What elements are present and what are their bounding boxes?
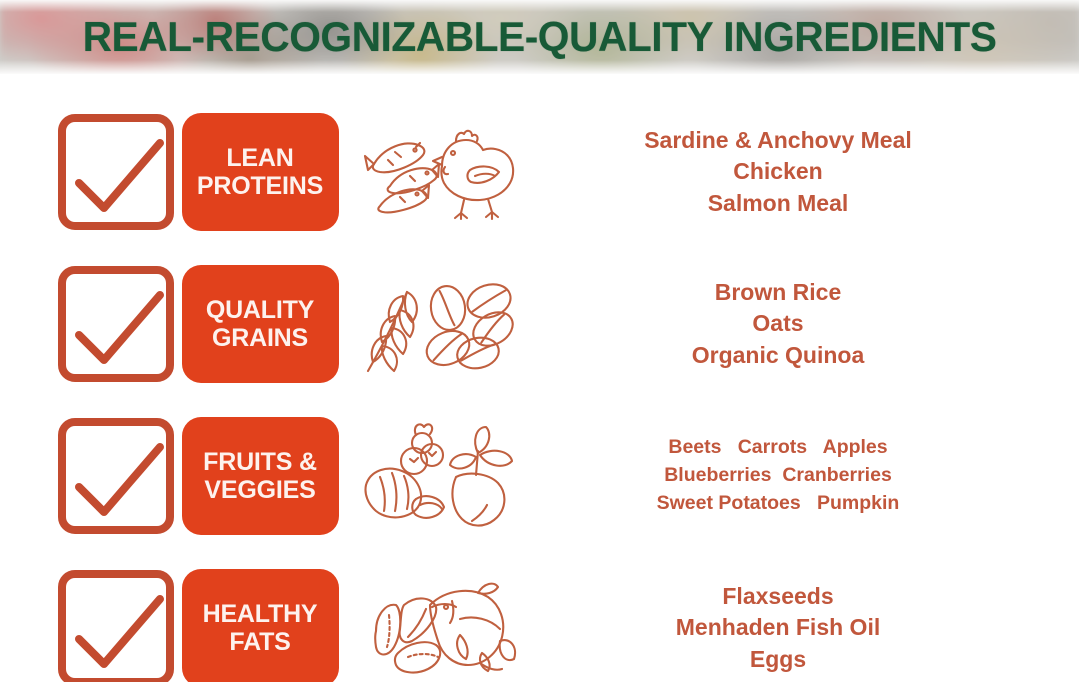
ingredient-row-fruits-veggies: FRUITS & VEGGIES: [0, 400, 1079, 552]
ingredient-list-cell: Brown Rice Oats Organic Quinoa: [535, 277, 1079, 370]
badge-line-2: FATS: [229, 628, 290, 656]
ingredient-line: Blueberries Cranberries: [664, 462, 892, 490]
checkmark-box-icon[interactable]: [57, 569, 175, 682]
berries-sweet-potato-beet-icon: [360, 421, 520, 531]
sardines-and-chicken-icon: [360, 120, 520, 224]
ingredient-rows: LEAN PROTEINS: [0, 74, 1079, 682]
icon-cell: [345, 575, 535, 681]
ingredient-row-quality-grains: QUALITY GRAINS: [0, 248, 1079, 400]
badge-cell: HEALTHY FATS: [175, 569, 345, 682]
ingredient-line: Oats: [752, 308, 803, 339]
ingredient-list-cell: Sardine & Anchovy Meal Chicken Salmon Me…: [535, 125, 1079, 218]
ingredient-line: Menhaden Fish Oil: [676, 612, 880, 643]
infographic-page: REAL-RECOGNIZABLE-QUALITY INGREDIENTS LE…: [0, 0, 1079, 682]
checkbox-cell: [0, 417, 175, 535]
ingredient-line: Chicken: [733, 156, 822, 187]
ingredient-line: Eggs: [750, 644, 806, 675]
ingredient-list-cell: Beets Carrots Apples Blueberries Cranber…: [535, 434, 1079, 517]
icon-cell: [345, 120, 535, 224]
checkmark-box-icon[interactable]: [57, 265, 175, 383]
badge-cell: LEAN PROTEINS: [175, 113, 345, 231]
checkmark-box-icon[interactable]: [57, 113, 175, 231]
ingredient-line: Flaxseeds: [722, 581, 833, 612]
flaxseeds-and-fish-icon: [360, 575, 520, 681]
badge-line-1: LEAN: [226, 144, 293, 172]
category-badge-healthy-fats[interactable]: HEALTHY FATS: [182, 569, 339, 682]
checkbox-cell: [0, 113, 175, 231]
ingredient-row-healthy-fats: HEALTHY FATS: [0, 552, 1079, 682]
ingredient-row-lean-proteins: LEAN PROTEINS: [0, 96, 1079, 248]
badge-line-2: PROTEINS: [197, 172, 323, 200]
ingredient-line: Sweet Potatoes Pumpkin: [657, 490, 900, 518]
ingredient-line: Beets Carrots Apples: [668, 434, 887, 462]
grain-stalk-and-seeds-icon: [360, 272, 520, 376]
badge-cell: QUALITY GRAINS: [175, 265, 345, 383]
badge-cell: FRUITS & VEGGIES: [175, 417, 345, 535]
badge-line-2: VEGGIES: [204, 476, 315, 504]
checkbox-cell: [0, 265, 175, 383]
badge-line-2: GRAINS: [212, 324, 308, 352]
header-banner: REAL-RECOGNIZABLE-QUALITY INGREDIENTS: [0, 0, 1079, 74]
icon-cell: [345, 421, 535, 531]
badge-line-1: FRUITS &: [203, 448, 317, 476]
badge-line-1: QUALITY: [206, 296, 314, 324]
ingredient-line: Salmon Meal: [708, 188, 849, 219]
ingredient-line: Sardine & Anchovy Meal: [644, 125, 912, 156]
page-title: REAL-RECOGNIZABLE-QUALITY INGREDIENTS: [16, 0, 1063, 74]
category-badge-quality-grains[interactable]: QUALITY GRAINS: [182, 265, 339, 383]
icon-cell: [345, 272, 535, 376]
category-badge-fruits-veggies[interactable]: FRUITS & VEGGIES: [182, 417, 339, 535]
ingredient-list-cell: Flaxseeds Menhaden Fish Oil Eggs: [535, 581, 1079, 674]
checkmark-box-icon[interactable]: [57, 417, 175, 535]
checkbox-cell: [0, 569, 175, 682]
badge-line-1: HEALTHY: [203, 600, 318, 628]
ingredient-line: Brown Rice: [715, 277, 842, 308]
ingredient-line: Organic Quinoa: [692, 340, 865, 371]
category-badge-lean-proteins[interactable]: LEAN PROTEINS: [182, 113, 339, 231]
